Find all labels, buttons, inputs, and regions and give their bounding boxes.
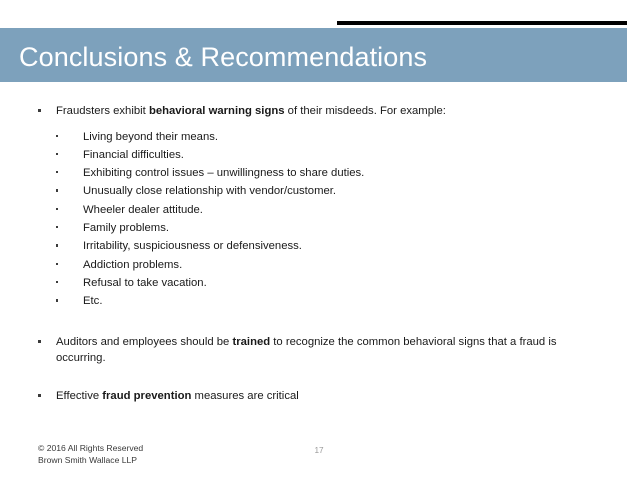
emphasis-text: behavioral warning signs bbox=[149, 105, 285, 117]
bullet-spacer bbox=[0, 310, 638, 335]
sub-bullet-text: Living beyond their means. bbox=[83, 131, 218, 143]
main-bullet-text: Auditors and employees should be trained… bbox=[56, 336, 557, 364]
title-band: Conclusions & Recommendations bbox=[0, 28, 627, 82]
sub-bullet-text: Family problems. bbox=[83, 222, 169, 234]
sub-bullet-item: Unusually close relationship with vendor… bbox=[56, 182, 602, 200]
sub-bullet-text: Addiction problems. bbox=[83, 259, 182, 271]
sub-bullet-marker-icon bbox=[56, 244, 58, 246]
plain-text: Auditors and employees should be bbox=[56, 336, 232, 348]
plain-text: of their misdeeds. For example: bbox=[285, 105, 446, 117]
sub-bullet-marker-icon bbox=[56, 263, 58, 265]
sub-bullet-item: Family problems. bbox=[56, 219, 602, 237]
sub-bullet-marker-icon bbox=[56, 153, 58, 155]
sub-bullet-item: Wheeler dealer attitude. bbox=[56, 201, 602, 219]
bullet-spacer bbox=[0, 366, 638, 389]
slide-canvas: Conclusions & Recommendations Fraudsters… bbox=[0, 0, 638, 479]
sub-bullet-text: Exhibiting control issues – unwillingnes… bbox=[83, 167, 364, 179]
bullet-marker-icon bbox=[38, 340, 41, 343]
sub-bullet-item: Living beyond their means. bbox=[56, 128, 602, 146]
sub-bullet-text: Etc. bbox=[83, 295, 102, 307]
plain-text: Effective bbox=[56, 390, 102, 402]
emphasis-text: fraud prevention bbox=[102, 390, 191, 402]
page-title: Conclusions & Recommendations bbox=[19, 28, 427, 82]
sub-bullet-item: Exhibiting control issues – unwillingnes… bbox=[56, 164, 602, 182]
page-number: 17 bbox=[0, 446, 638, 455]
main-bullet-item: Effective fraud prevention measures are … bbox=[0, 389, 638, 405]
sub-bullet-text: Refusal to take vacation. bbox=[83, 277, 207, 289]
sub-bullet-item: Financial difficulties. bbox=[56, 146, 602, 164]
emphasis-text: trained bbox=[232, 336, 270, 348]
sub-bullet-item: Irritability, suspiciousness or defensiv… bbox=[56, 237, 602, 255]
sub-bullet-text: Financial difficulties. bbox=[83, 149, 184, 161]
bullet-list: Fraudsters exhibit behavioral warning si… bbox=[0, 104, 638, 405]
bullet-marker-icon bbox=[38, 109, 41, 112]
plain-text: Fraudsters exhibit bbox=[56, 105, 149, 117]
bullet-marker-icon bbox=[38, 394, 41, 397]
sub-bullet-marker-icon bbox=[56, 208, 58, 210]
sub-bullet-item: Addiction problems. bbox=[56, 256, 602, 274]
sub-bullet-marker-icon bbox=[56, 281, 58, 283]
sub-bullet-item: Refusal to take vacation. bbox=[56, 274, 602, 292]
slide-footer: © 2016 All Rights Reserved Brown Smith W… bbox=[0, 443, 638, 479]
main-bullet-text: Effective fraud prevention measures are … bbox=[56, 390, 299, 402]
sub-bullet-marker-icon bbox=[56, 171, 58, 173]
sub-bullet-text: Wheeler dealer attitude. bbox=[83, 204, 203, 216]
stripe-bar-1 bbox=[337, 21, 627, 25]
sub-bullet-marker-icon bbox=[56, 189, 58, 191]
sub-bullet-marker-icon bbox=[56, 299, 58, 301]
slide-body: Fraudsters exhibit behavioral warning si… bbox=[0, 104, 638, 405]
sub-bullet-text: Irritability, suspiciousness or defensiv… bbox=[83, 240, 302, 252]
sub-bullet-marker-icon bbox=[56, 226, 58, 228]
main-bullet-item: Auditors and employees should be trained… bbox=[0, 335, 638, 366]
main-bullet-item: Fraudsters exhibit behavioral warning si… bbox=[0, 104, 638, 310]
sub-bullet-list: Living beyond their means.Financial diff… bbox=[56, 128, 602, 311]
main-bullet-text: Fraudsters exhibit behavioral warning si… bbox=[56, 105, 446, 117]
plain-text: measures are critical bbox=[191, 390, 298, 402]
sub-bullet-marker-icon bbox=[56, 135, 58, 137]
sub-bullet-text: Unusually close relationship with vendor… bbox=[83, 185, 336, 197]
sub-bullet-item: Etc. bbox=[56, 292, 602, 310]
